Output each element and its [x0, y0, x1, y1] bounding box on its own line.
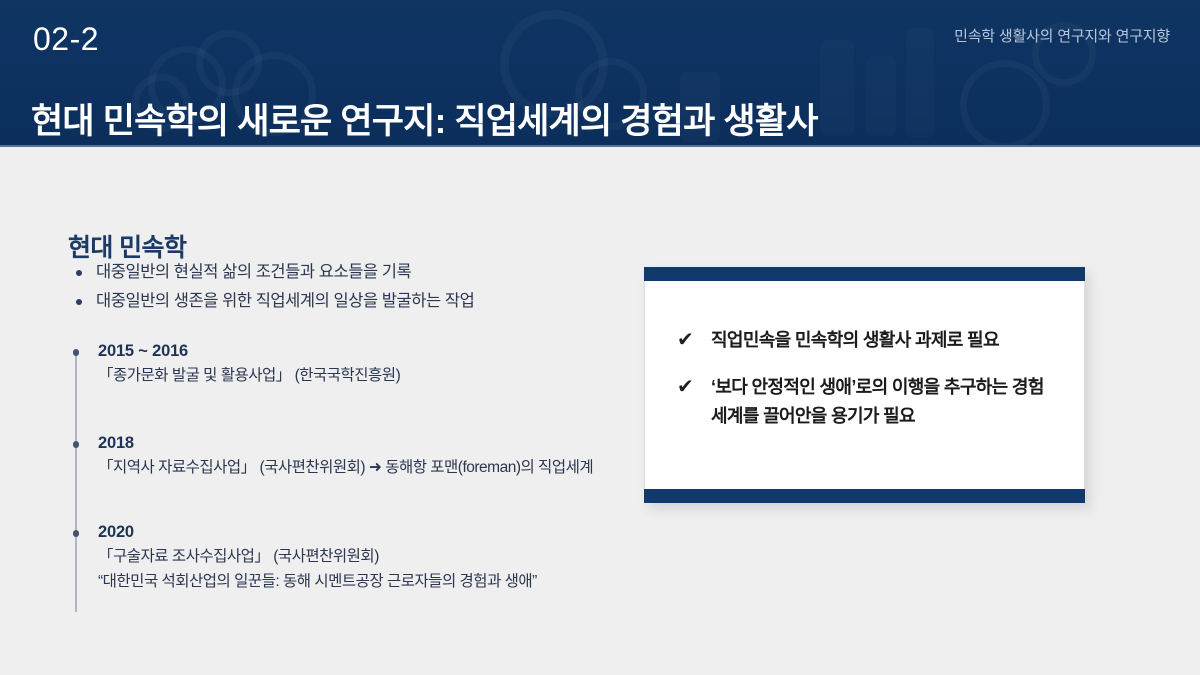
section-number: 02-2	[33, 23, 99, 55]
bullet-dot-icon	[73, 349, 80, 356]
watermark-shape	[866, 56, 896, 136]
lead-bullet-list: 대중일반의 현실적 삶의 조건들과 요소들을 기록 대중일반의 생존을 위한 직…	[72, 259, 632, 317]
checklist-item-label: ‘보다 안정적인 생애’로의 이행을 추구하는 경험세계를 끌어안을 용기가 필…	[711, 377, 1044, 426]
slide-root: 02-2 현대 민속학의 새로운 연구지: 직업세계의 경험과 생활사 민속학 …	[0, 0, 1200, 675]
timeline-year: 2018	[98, 432, 668, 454]
timeline-year: 2015 ~ 2016	[98, 340, 668, 362]
slide-header: 02-2 현대 민속학의 새로운 연구지: 직업세계의 경험과 생활사 민속학 …	[0, 0, 1200, 147]
callout-top-bar	[644, 267, 1085, 281]
timeline-entry: 2015 ~ 2016 「종가문화 발굴 및 활용사업」 (한국국학진흥원)	[68, 340, 668, 388]
spiral-ornament-icon	[960, 60, 1050, 147]
callout-bottom-bar	[644, 489, 1085, 503]
checklist-item-label: 직업민속을 민속학의 생활사 과제로 필요	[711, 330, 999, 350]
bullet-dot-icon	[76, 299, 82, 305]
header-underline	[0, 145, 1200, 147]
deck-subtitle: 민속학 생활사의 연구지와 연구지향	[954, 29, 1170, 44]
checklist-item: ✔ 직업민속을 민속학의 생활사 과제로 필요	[675, 326, 1056, 355]
timeline-detail: 「구술자료 조사수집사업」 (국사편찬위원회)	[98, 544, 668, 569]
timeline-detail: “대한민국 석회산업의 일꾼들: 동해 시멘트공장 근로자들의 경험과 생애”	[98, 569, 668, 594]
watermark-shape	[820, 40, 854, 136]
list-item: 대중일반의 현실적 삶의 조건들과 요소들을 기록	[72, 259, 632, 286]
timeline-detail: 「종가문화 발굴 및 활용사업」 (한국국학진흥원)	[98, 363, 668, 388]
project-timeline: 2015 ~ 2016 「종가문화 발굴 및 활용사업」 (한국국학진흥원) 2…	[68, 340, 668, 594]
list-item-label: 대중일반의 생존을 위한 직업세계의 일상을 발굴하는 작업	[96, 292, 474, 310]
callout-box: ✔ 직업민속을 민속학의 생활사 과제로 필요 ✔ ‘보다 안정적인 생애’로의…	[644, 267, 1085, 503]
list-item-label: 대중일반의 현실적 삶의 조건들과 요소들을 기록	[96, 263, 411, 281]
bullet-dot-icon	[73, 530, 80, 537]
list-item: 대중일반의 생존을 위한 직업세계의 일상을 발굴하는 작업	[72, 288, 632, 315]
callout-content: ✔ 직업민속을 민속학의 생활사 과제로 필요 ✔ ‘보다 안정적인 생애’로의…	[645, 282, 1084, 488]
timeline-entry: 2020 「구술자료 조사수집사업」 (국사편찬위원회) “대한민국 석회산업의…	[68, 521, 668, 594]
timeline-detail: 「지역사 자료수집사업」 (국사편찬위원회) ➜ 동해항 포맨(foreman)…	[98, 455, 668, 480]
timeline-year: 2020	[98, 521, 668, 543]
checklist-item: ✔ ‘보다 안정적인 생애’로의 이행을 추구하는 경험세계를 끌어안을 용기가…	[675, 373, 1056, 431]
watermark-shape	[906, 28, 934, 138]
bullet-dot-icon	[76, 270, 82, 276]
page-title: 현대 민속학의 새로운 연구지: 직업세계의 경험과 생활사	[31, 102, 818, 142]
check-icon: ✔	[677, 373, 693, 402]
check-icon: ✔	[677, 326, 693, 355]
bullet-dot-icon	[73, 441, 80, 448]
timeline-entry: 2018 「지역사 자료수집사업」 (국사편찬위원회) ➜ 동해항 포맨(for…	[68, 432, 668, 480]
